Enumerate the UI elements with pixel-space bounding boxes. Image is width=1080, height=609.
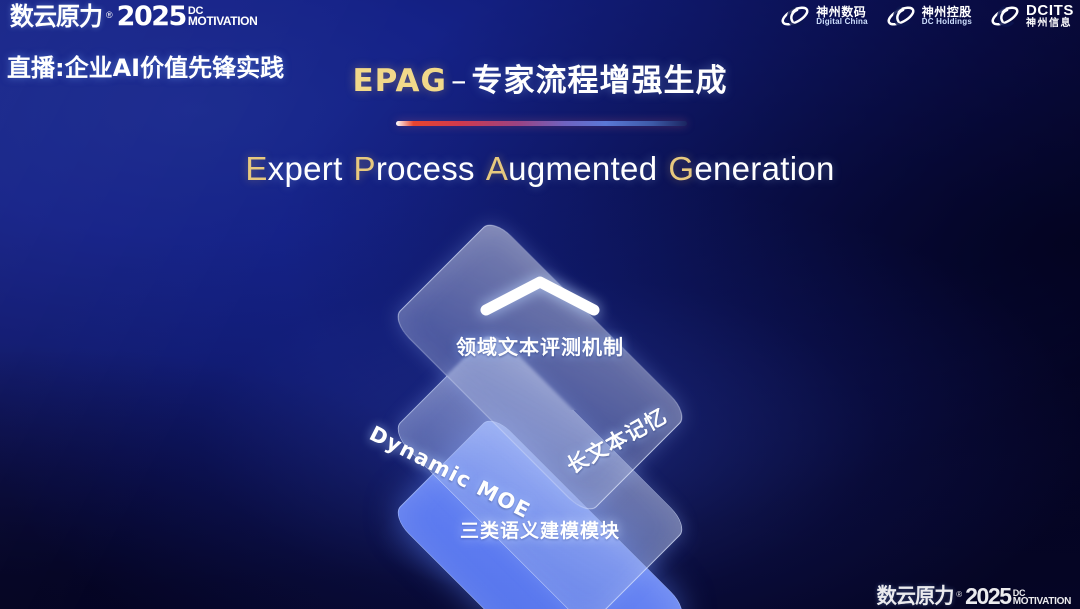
watermark-dc-motivation: DC MOTIVATION: [1013, 589, 1071, 606]
watermark-year: 2025: [965, 585, 1011, 608]
swoosh-icon: [780, 3, 810, 29]
partner-logo-text: 神州数码 Digital China: [816, 6, 868, 26]
watermark-motivation: MOTIVATION: [1013, 597, 1071, 607]
partner-logo-dcits: DCITS 神州信息: [990, 3, 1074, 29]
page-title: EPAG–专家流程增强生成: [0, 55, 1080, 100]
subtitle-cap: G: [668, 150, 694, 187]
slide-canvas: 数云原力 ® 2025 DC MOTIVATION 直播:企业AI价值先锋实践 …: [0, 0, 1080, 609]
subtitle-word-expert: Expert: [245, 150, 342, 187]
subtitle-word-augmented: Augmented: [486, 150, 658, 187]
partner-name-en: DC Holdings: [922, 18, 972, 26]
partner-logo-dc-holdings: 神州控股 DC Holdings: [886, 3, 972, 29]
footer-watermark-logo: 数云原力 ® 2025 DC MOTIVATION: [875, 584, 1071, 607]
subtitle-cap: E: [245, 150, 267, 187]
watermark-cn: 数云原力: [877, 586, 954, 607]
subtitle-word-process: Process: [354, 150, 475, 187]
brand-logo-dc-motivation: DC MOTIVATION: [188, 6, 258, 27]
diagram-layer-top[interactable]: [401, 228, 679, 506]
partner-logo-digital-china: 神州数码 Digital China: [780, 3, 868, 29]
page-title-acronym: EPAG: [353, 63, 448, 99]
page-title-chinese: 专家流程增强生成: [472, 63, 728, 99]
partner-logo-text: DCITS 神州信息: [1026, 3, 1074, 28]
subtitle-cap: P: [354, 150, 376, 187]
brand-logo-motivation: MOTIVATION: [188, 16, 258, 27]
subtitle-cap: A: [486, 150, 508, 187]
brand-logo: 数云原力 ® 2025 DC MOTIVATION: [8, 2, 258, 29]
layered-architecture-diagram: 领域文本评测机制 Dynamic MOE 长文本记忆 三类语义建模模块: [0, 228, 1080, 568]
title-divider: [396, 121, 687, 126]
partner-logo-group: 神州数码 Digital China 神州控股 DC Holdings: [780, 3, 1074, 29]
subtitle-rest: xpert: [268, 150, 343, 187]
partner-name-cn: DCITS: [1026, 3, 1074, 18]
partner-name-en: 神州信息: [1026, 19, 1074, 29]
brand-logo-cn: 数云原力: [10, 4, 102, 29]
partner-name-en: Digital China: [816, 18, 868, 26]
page-subtitle: ExpertProcessAugmentedGeneration: [0, 150, 1080, 188]
subtitle-rest: ugmented: [508, 150, 657, 187]
diagram-layer-top-plate: [391, 218, 690, 517]
page-title-dash: –: [447, 63, 472, 99]
partner-logo-text: 神州控股 DC Holdings: [922, 6, 972, 26]
brand-logo-registered: ®: [106, 10, 113, 20]
swoosh-icon: [990, 3, 1020, 29]
subtitle-rest: eneration: [694, 150, 834, 187]
watermark-registered: ®: [956, 590, 962, 599]
subtitle-word-generation: Generation: [668, 150, 834, 187]
swoosh-icon: [886, 3, 916, 29]
subtitle-rest: rocess: [376, 150, 475, 187]
brand-logo-year: 2025: [117, 3, 186, 30]
